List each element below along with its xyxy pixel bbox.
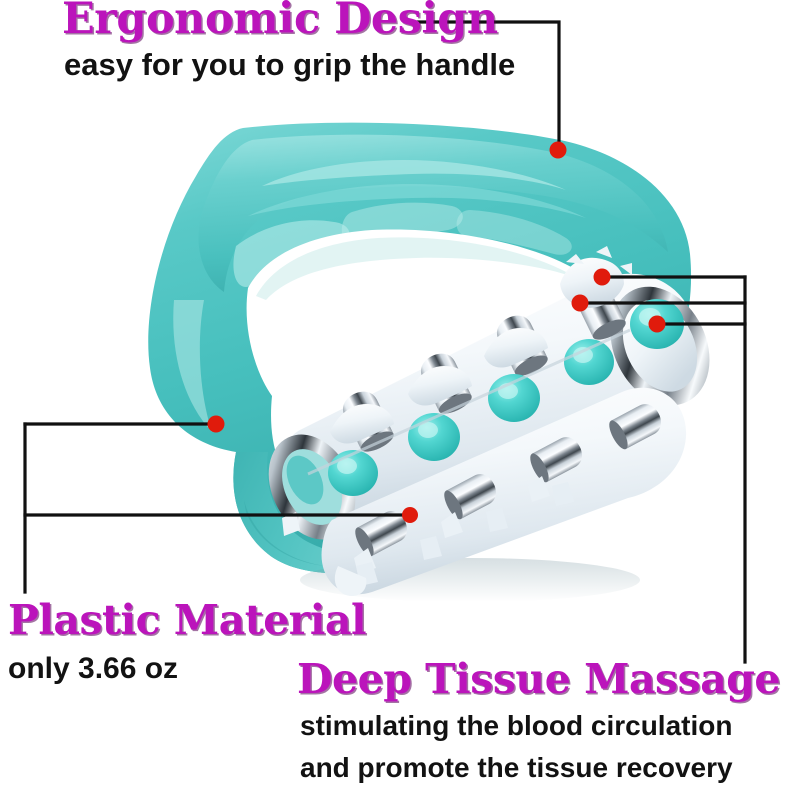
heading-ergonomic-design: Ergonomic Design: [62, 0, 498, 41]
callout-dot-deep-nub: [572, 295, 589, 312]
heading-plastic-material: Plastic Material: [8, 600, 366, 641]
callout-dot-plastic-nub: [402, 507, 418, 523]
infographic-canvas: Ergonomic Design easy for you to grip th…: [0, 0, 800, 800]
callout-dot-deep-collar: [594, 269, 611, 286]
callout-dot-handle: [550, 142, 567, 159]
heading-deep-tissue-massage: Deep Tissue Massage: [297, 659, 780, 700]
callout-dots: [208, 142, 666, 524]
subtitle-ergonomic-design: easy for you to grip the handle: [64, 48, 515, 83]
callout-dot-plastic-body: [208, 416, 225, 433]
callout-dot-deep-dome: [649, 316, 666, 333]
subtitle-deep-tissue-line1: stimulating the blood circulation: [300, 710, 732, 741]
subtitle-deep-tissue-line2: and promote the tissue recovery: [300, 752, 733, 783]
subtitle-plastic-material: only 3.66 oz: [8, 652, 178, 686]
